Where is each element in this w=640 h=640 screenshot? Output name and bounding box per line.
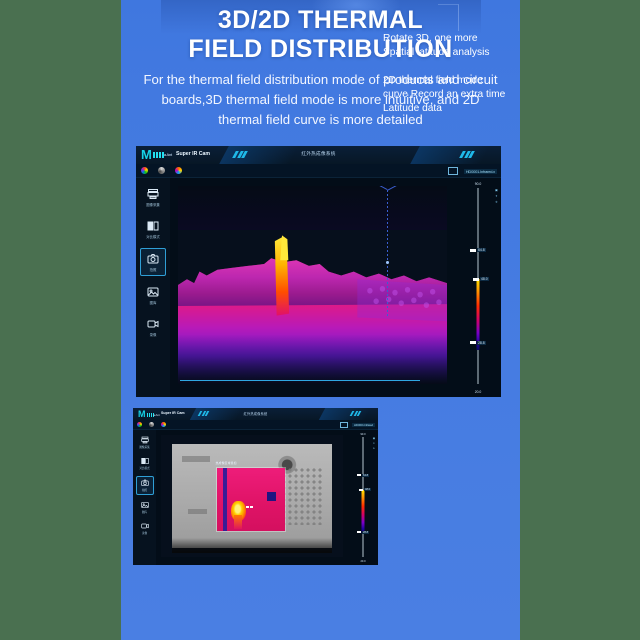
sidebar-item-contrast[interactable]: 对比模式 [141,216,165,242]
window-title-2d: 红外热成像系统 [244,411,268,416]
toolbar-status-2d: HD0001.Infrared [340,422,375,428]
sidebar-item-video[interactable]: 录像 [141,314,165,340]
scale-bottom-value: 20.0 [360,560,365,563]
contrast-icon [140,457,150,465]
side-copy-paragraph-1: Rotate 3D, one more Spatial latitude ana… [383,32,507,60]
app-body-2d: 图像采集 对比模式 [133,430,378,565]
scale-marker-value: 48.0 [480,277,489,281]
scale-tools-2d[interactable]: ▣ ✦ ✛ [373,437,375,450]
thermal-overlay-region[interactable] [217,468,284,531]
marker-swatch [357,531,361,533]
titlebar-slant-right [410,146,490,164]
brand-logo-2d: M a Ant [138,410,159,419]
hotspot-readout [246,506,253,508]
color-wheel-icon[interactable] [137,422,142,427]
sidebar-label-contrast: 对比模式 [146,234,160,239]
contrast-icon [146,220,160,232]
sidebar-item-video[interactable]: 录像 [137,520,153,537]
marker-swatch [470,249,476,252]
toolbar-2d: HD0001.Infrared [133,420,378,430]
gallery-icon [146,286,160,298]
sidebar-label-contrast: 对比模式 [139,466,149,470]
temperature-scale-3d[interactable]: ▣ ✦ ✛ 90.0 64.8 48.0 [455,178,501,397]
surface-mesh-icon [178,222,447,384]
screenshot-root: 3D/2D THERMAL FIELD DISTRIBUTION For the… [0,0,640,640]
video-icon [140,522,150,530]
grayscale-wheel-icon[interactable] [158,167,165,174]
scale-lower-marker[interactable]: 28.8 [470,341,486,345]
color-wheel-icon[interactable] [141,167,148,174]
board-trace [182,456,211,462]
board-trace [188,509,207,514]
scale-upper-value: 64.8 [362,474,369,477]
board-pad-grid [281,467,323,526]
rotation-axis-indicator [387,190,388,317]
sidebar-label-camera: 拍照 [142,488,147,492]
sidebar-item-camera[interactable]: 拍照 [136,476,154,495]
scale-upper-marker[interactable]: 64.8 [470,248,486,252]
logo-mark: M [141,148,152,161]
grayscale-wheel-icon[interactable] [149,422,154,427]
status-badge-2d: HD0001.Infrared [352,423,375,427]
titlebar-slant-right [319,408,371,420]
sidebar-3d: 图像采集 对比模式 [136,178,171,397]
brand-logo-3d: M a Ant [141,148,172,161]
cold-square [267,492,276,501]
sidebar-item-scanner[interactable]: 图像采集 [137,434,153,451]
titlebar-3d: M a Ant Super IR Cam 红外热成像系统 [136,146,501,164]
palette-icon[interactable] [175,167,182,174]
settings-icon[interactable]: ✦ [495,194,498,198]
maximize-icon[interactable]: ▣ [495,188,498,192]
thermal-2d-canvas[interactable]: 热成像区域叠加 [161,435,343,557]
thermal-3d-canvas[interactable] [178,186,447,384]
scale-peak-marker[interactable]: 48.0 [473,277,489,281]
scale-color-gradient [362,490,365,534]
scale-color-gradient [477,279,480,349]
sidebar-item-contrast[interactable]: 对比模式 [137,455,153,472]
scale-lower-marker[interactable]: 28.8 [357,531,369,534]
scale-bottom-value: 20.0 [475,390,482,394]
scale-upper-marker[interactable]: 64.8 [357,474,369,477]
maximize-icon[interactable]: ▣ [373,437,375,440]
overlay-caption: 热成像区域叠加 [216,461,237,465]
marker-swatch [470,341,476,344]
side-copy-paragraph-2: 2D thermal field mode curve Record an ex… [383,74,507,116]
scale-tools-3d[interactable]: ▣ ✦ ✛ [495,188,498,204]
app-name-3d: Super IR Cam [176,151,210,157]
scale-lower-value: 28.8 [477,341,486,345]
scale-peak-marker[interactable]: 48.0 [359,488,371,491]
palette-toolbar-2d[interactable] [137,422,166,427]
settings-icon[interactable]: ✦ [373,442,375,445]
titlebar-slant-left [219,146,299,164]
window-title-3d: 红外热成像系统 [301,151,335,157]
sidebar-label-gallery: 图库 [142,510,147,514]
sidebar-label-camera: 拍照 [150,267,157,272]
logo-subtext: a Ant [164,152,172,157]
sidebar-label-video: 录像 [142,531,147,535]
thermal-surface [178,186,447,384]
envelope-icon[interactable] [448,167,458,175]
sidebar-item-camera[interactable]: 拍照 [140,248,166,276]
titlebar-2d: M a Ant Super IR Cam 红外热成像系统 [133,408,378,420]
app-body-3d: 图像采集 对比模式 [136,178,501,397]
sidebar-label-scanner: 图像采集 [139,445,149,449]
envelope-icon[interactable] [340,422,348,428]
scanner-icon [140,436,150,444]
palette-icon[interactable] [161,422,166,427]
temperature-scale-2d[interactable]: ▣ ✦ ✛ 90.0 64.8 48.0 [348,430,378,565]
sidebar-label-video: 录像 [150,332,157,337]
gallery-icon [140,501,150,509]
scale-marker-value: 48.0 [364,488,371,491]
app-window-2d: M a Ant Super IR Cam 红外热成像系统 HD0001.Infr [133,408,378,565]
sidebar-item-gallery[interactable]: 图库 [141,282,165,308]
scale-top-value: 90.0 [360,433,365,436]
app-name-2d: Super IR Cam [161,411,185,415]
sidebar-2d: 图像采集 对比模式 [133,430,157,565]
status-badge-3d: HD0001.Infrared.x [464,169,497,174]
page-title-line1: 3D/2D THERMAL [121,6,520,35]
hotspot-stem [234,515,243,529]
marker-swatch [359,489,363,491]
logo-bars-icon [147,413,154,417]
baseline-indicator [180,380,420,381]
video-icon [146,318,160,330]
sidebar-item-scanner[interactable]: 图像采集 [141,184,165,210]
app-window-3d: M a Ant Super IR Cam 红外热成像系统 HD0001.Infr [136,146,501,397]
camera-icon [140,479,150,487]
scanner-icon [146,188,160,200]
logo-bars-icon [153,152,164,158]
scale-upper-value: 64.8 [477,248,486,252]
sidebar-label-scanner: 图像采集 [146,202,160,207]
viewport-2d[interactable]: 热成像区域叠加 [156,430,348,565]
palette-toolbar-3d[interactable] [141,167,182,174]
scale-top-value: 90.0 [475,182,482,186]
logo-subtext: a Ant [154,413,160,417]
add-icon[interactable]: ✛ [373,447,375,450]
toolbar-status-3d: HD0001.Infrared.x [448,167,497,175]
logo-mark: M [138,410,146,419]
marker-swatch [357,474,361,476]
sidebar-item-gallery[interactable]: 图库 [137,499,153,516]
sidebar-label-gallery: 图库 [150,300,157,305]
cold-strip [223,468,228,531]
scale-lower-value: 28.8 [362,531,369,534]
add-icon[interactable]: ✛ [495,200,498,204]
promo-page: 3D/2D THERMAL FIELD DISTRIBUTION For the… [121,0,520,640]
side-copy: Rotate 3D, one more Spatial latitude ana… [383,32,507,116]
viewport-3d[interactable] [170,178,455,397]
camera-icon [146,253,160,265]
marker-swatch [473,278,479,281]
toolbar-3d: HD0001.Infrared.x [136,164,501,178]
